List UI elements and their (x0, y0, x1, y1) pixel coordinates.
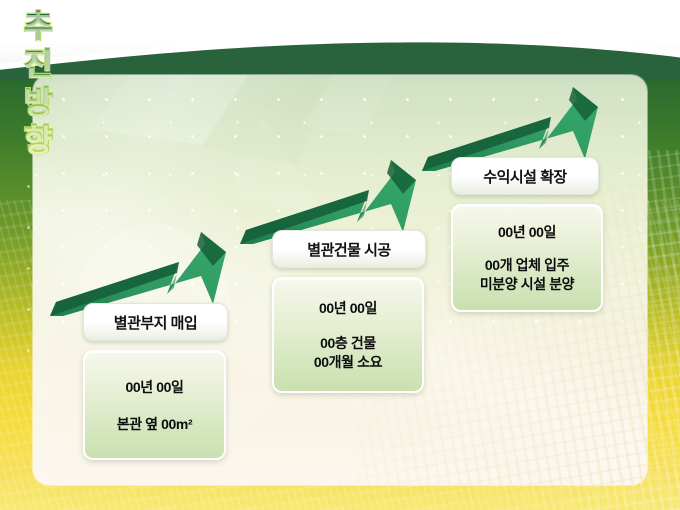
step-2-date: 00년 00일 (319, 298, 377, 318)
step-card-1: 별관부지 매입 00년 00일 본관 옆 00m² (83, 303, 228, 460)
step-1-body: 00년 00일 본관 옆 00m² (83, 350, 226, 460)
step-2-detail-lines: 00층 건물 00개월 소요 (314, 334, 382, 372)
page-title: 추진방향 (24, 8, 52, 160)
step-1-detail-lines: 본관 옆 00m² (117, 415, 193, 433)
step-3-body: 00년 00일 00개 업체 입주 미분양 시설 분양 (451, 204, 603, 312)
step-2-detail-line: 00개월 소요 (314, 353, 382, 372)
step-3-detail-line: 00개 업체 입주 (480, 256, 574, 275)
step-3-header[interactable]: 수익시설 확장 (451, 157, 599, 195)
step-1-date: 00년 00일 (126, 377, 184, 397)
header-wave-svg (0, 20, 680, 80)
step-1-header[interactable]: 별관부지 매입 (83, 303, 228, 341)
step-3-detail-lines: 00개 업체 입주 미분양 시설 분양 (480, 256, 574, 294)
step-3-date: 00년 00일 (498, 222, 556, 242)
presentation-slide: 추진방향 추진방향 (0, 0, 680, 510)
step-card-2: 별관건물 시공 00년 00일 00층 건물 00개월 소요 (272, 230, 426, 393)
step-2-detail-line: 00층 건물 (314, 334, 382, 353)
step-2-header[interactable]: 별관건물 시공 (272, 230, 426, 268)
step-1-detail-line: 본관 옆 00m² (117, 415, 193, 433)
step-2-body: 00년 00일 00층 건물 00개월 소요 (272, 277, 424, 393)
step-3-detail-line: 미분양 시설 분양 (480, 275, 574, 294)
step-card-3: 수익시설 확장 00년 00일 00개 업체 입주 미분양 시설 분양 (451, 157, 603, 312)
header-wave-divider (0, 20, 680, 80)
